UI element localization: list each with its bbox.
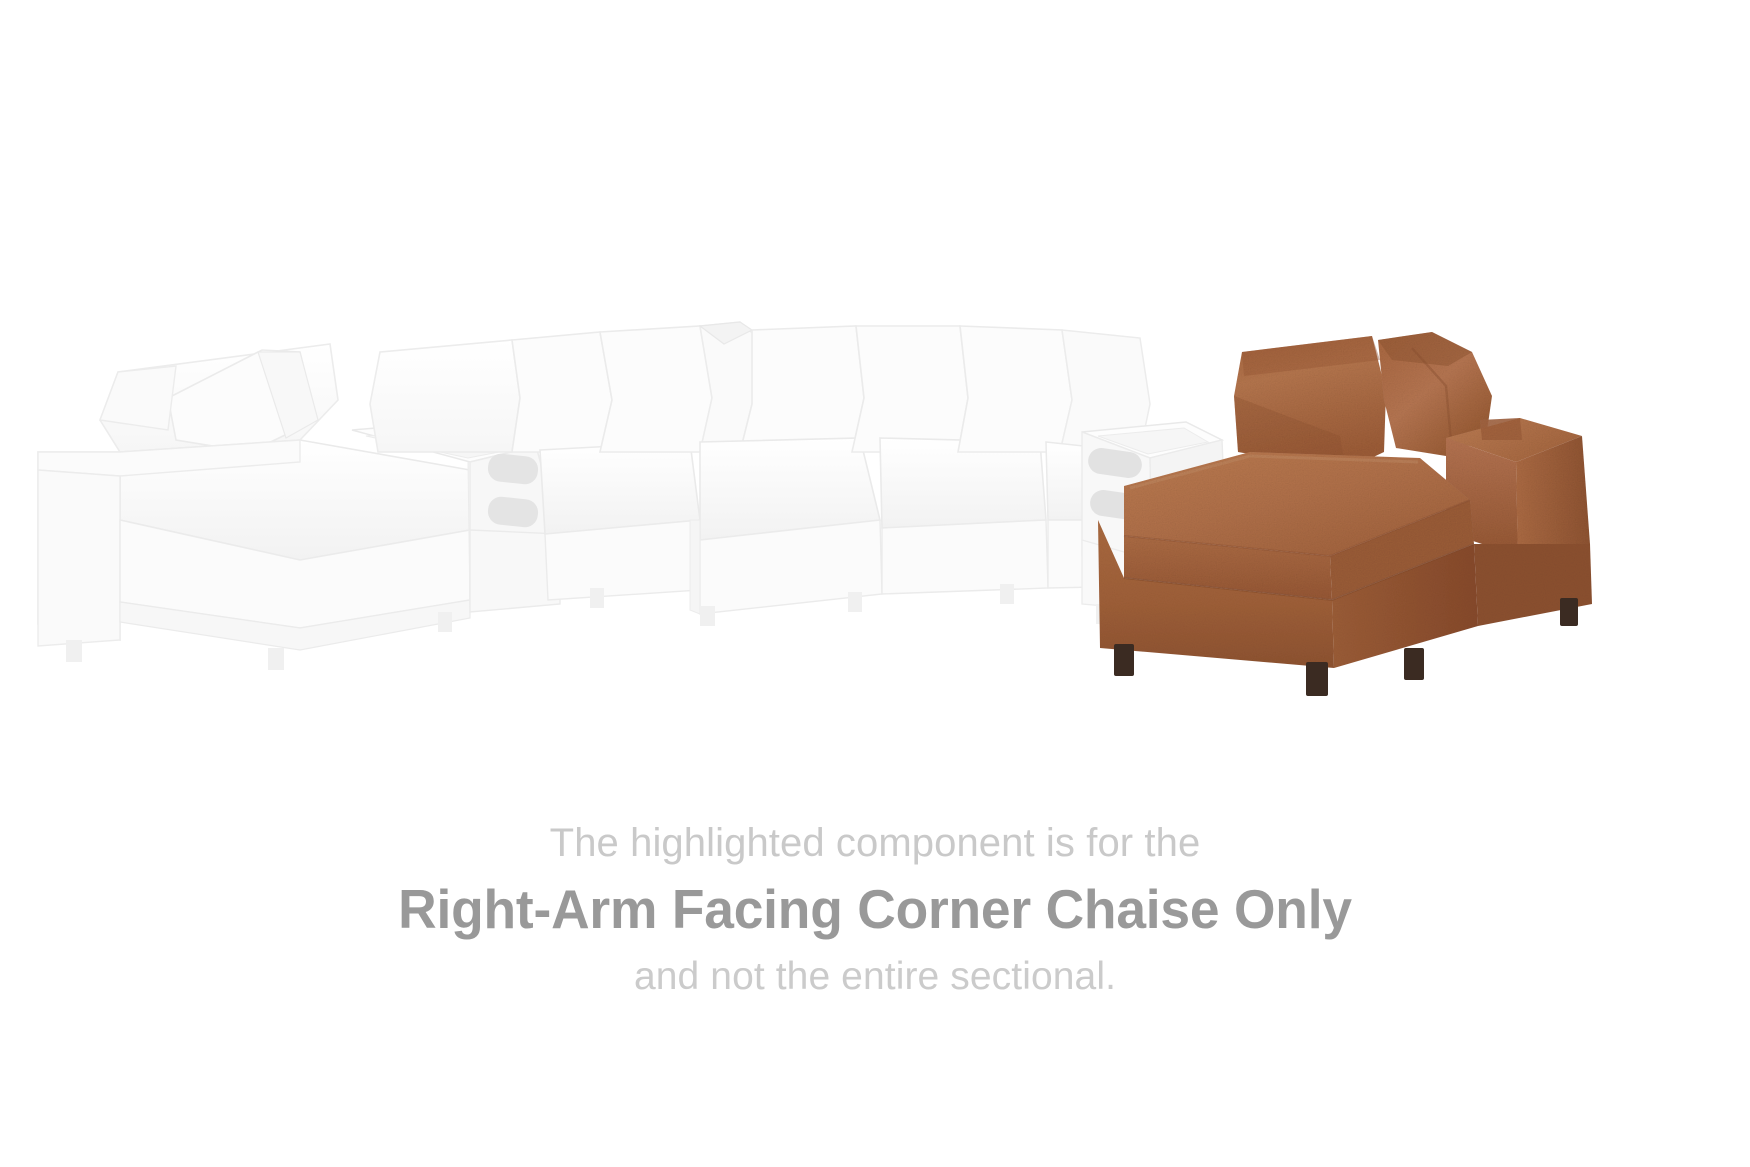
chaise-back-cushion-left (1234, 336, 1386, 470)
ghost-leg (66, 640, 82, 662)
screenshot-canvas: The highlighted component is for the Rig… (0, 0, 1750, 1167)
chaise-leg (1306, 662, 1328, 696)
caption-block: The highlighted component is for the Rig… (0, 815, 1750, 1007)
ghost-leg (268, 648, 284, 670)
chaise-leg (1404, 648, 1424, 680)
sectional-sofa-diagram (0, 0, 1750, 800)
ghosted-sectional (38, 322, 1226, 670)
caption-headline: Right-Arm Facing Corner Chaise Only (26, 871, 1724, 947)
product-illustration (0, 0, 1750, 800)
chaise-leg (1560, 598, 1578, 626)
ghost-leg (438, 612, 452, 632)
caption-line-top: The highlighted component is for the (0, 815, 1750, 871)
chaise-leg (1114, 644, 1134, 676)
highlighted-raf-corner-chaise (1098, 332, 1592, 696)
caption-line-bottom: and not the entire sectional. (0, 947, 1750, 1007)
